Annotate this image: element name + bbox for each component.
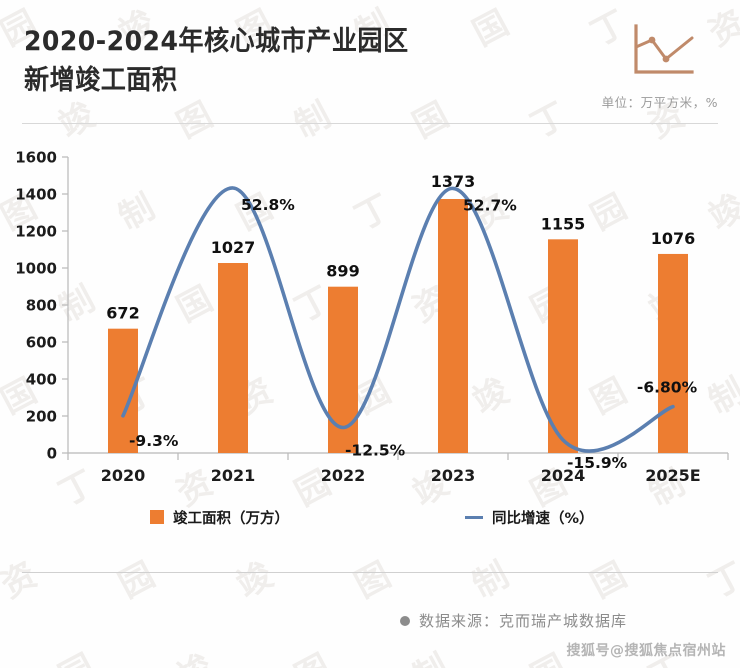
bar-2025E — [658, 254, 688, 453]
watermark-glyph: 图 — [345, 546, 402, 607]
bar-2024 — [548, 239, 578, 453]
growth-rate-line — [123, 188, 673, 451]
footer-divider — [22, 572, 718, 573]
watermark-glyph: 丁 — [699, 546, 740, 607]
line-chart-icon — [630, 23, 696, 79]
combo-bar-line-chart: 02004006008001000120014001600 6721027899… — [0, 140, 740, 490]
growth-rate-label: 52.7% — [463, 196, 517, 214]
y-axis-tick-label: 0 — [47, 445, 57, 463]
source-row: 数据来源：克而瑞产城数据库 — [400, 610, 627, 631]
watermark-glyph: 国 — [581, 546, 638, 607]
y-axis-tick-label: 1600 — [15, 149, 57, 167]
watermark-glyph: 制 — [403, 638, 460, 668]
bullet-dot-icon — [400, 616, 410, 626]
watermark-glyph: 资 — [0, 546, 47, 607]
x-axis-category-label: 2022 — [321, 466, 366, 485]
legend-swatch-bar-icon — [150, 510, 164, 524]
bar-2023 — [438, 199, 468, 453]
chart-header: 2020-2024年核心城市产业园区 新增竣工面积 单位：万平方米，% — [0, 0, 740, 128]
x-axis-category-label: 2025E — [645, 466, 700, 485]
chart-page: 丁资园竣图制国丁资园竣图制国丁资园竣图制国丁资园竣图制国丁资园竣图制国丁资园竣图… — [0, 0, 740, 668]
y-axis-tick-label: 1000 — [15, 260, 57, 278]
legend-item-bar: 竣工面积（万方） — [150, 507, 289, 528]
bar-value-label: 1373 — [431, 172, 476, 191]
page-title: 2020-2024年核心城市产业园区 新增竣工面积 — [24, 22, 544, 100]
bar-series — [108, 199, 688, 453]
bar-value-label: 1076 — [651, 229, 696, 248]
y-axis-tick-label: 1400 — [15, 186, 57, 204]
x-axis-category-label: 2024 — [541, 466, 586, 485]
growth-rate-label: 52.8% — [241, 196, 295, 214]
header-divider — [22, 123, 718, 124]
unit-label: 单位：万平方米，% — [602, 92, 718, 111]
bar-2021 — [218, 263, 248, 453]
watermark-glyph: 园 — [109, 546, 166, 607]
y-axis-tick-label: 200 — [26, 408, 57, 426]
chart-legend: 竣工面积（万方） 同比增速（%） — [0, 500, 740, 534]
y-axis: 02004006008001000120014001600 — [15, 149, 68, 463]
line-series — [123, 188, 673, 451]
bar-value-label: 1155 — [541, 214, 586, 233]
growth-rate-label: -12.5% — [345, 442, 406, 460]
watermark-glyph: 竣 — [167, 638, 224, 668]
y-axis-tick-label: 600 — [26, 334, 57, 352]
y-axis-tick-label: 1200 — [15, 223, 57, 241]
title-line-1: 2020-2024年核心城市产业园区 — [24, 22, 508, 61]
watermark-glyph: 制 — [463, 546, 520, 607]
watermark-glyph: 园 — [49, 638, 106, 668]
x-axis-category-label: 2020 — [101, 466, 146, 485]
bar-value-label: 672 — [106, 304, 139, 323]
site-watermark: 搜狐号@搜狐焦点宿州站 — [567, 640, 727, 660]
watermark-glyph: 竣 — [227, 546, 284, 607]
y-axis-tick-label: 400 — [26, 371, 57, 389]
legend-label-bar: 竣工面积（万方） — [173, 507, 289, 528]
growth-rate-label: -9.3% — [129, 432, 179, 450]
chart-plot-area: 02004006008001000120014001600 6721027899… — [0, 140, 740, 490]
x-axis-category-label: 2023 — [431, 466, 476, 485]
legend-label-line: 同比增速（%） — [492, 507, 594, 528]
source-text: 数据来源：克而瑞产城数据库 — [419, 610, 627, 631]
growth-rate-label: -6.80% — [637, 379, 698, 397]
x-axis-category-label: 2021 — [211, 466, 256, 485]
legend-item-line: 同比增速（%） — [465, 507, 594, 528]
legend-swatch-line-icon — [465, 516, 483, 519]
bar-value-label: 1027 — [211, 238, 256, 257]
watermark-glyph: 图 — [285, 638, 342, 668]
y-axis-tick-label: 800 — [26, 297, 57, 315]
title-line-2: 新增竣工面积 — [24, 61, 508, 100]
bar-value-label: 899 — [326, 262, 359, 281]
